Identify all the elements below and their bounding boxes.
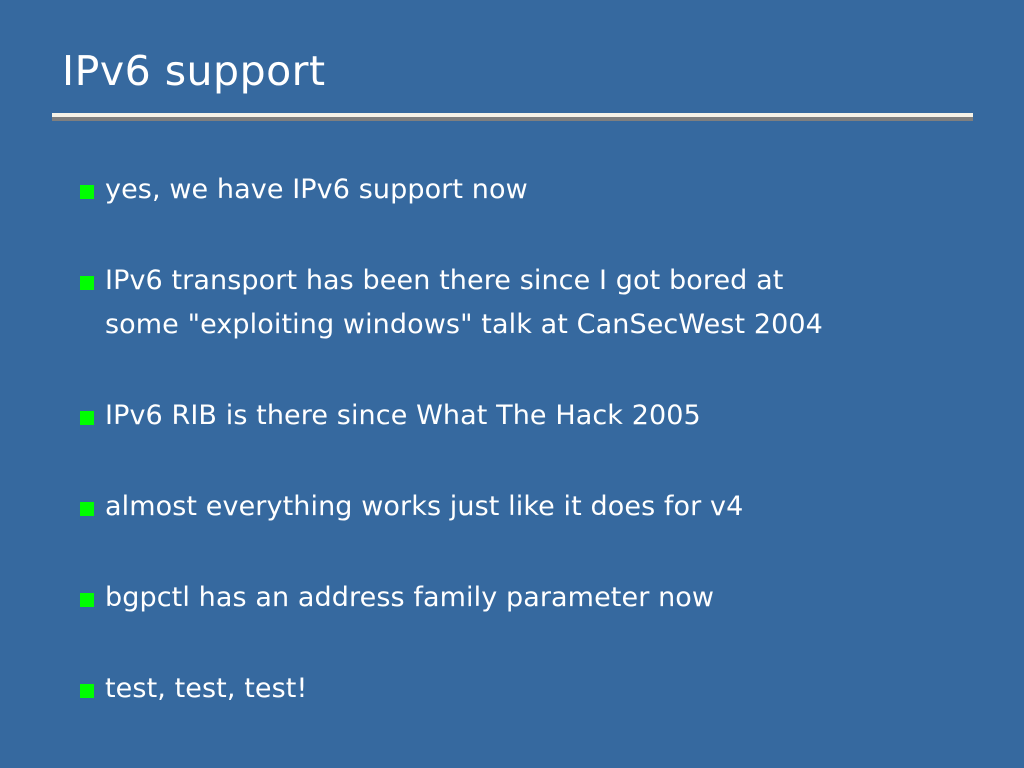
list-item-label: almost everything works just like it doe… [105, 485, 980, 529]
square-bullet-icon [80, 276, 94, 290]
page-title: IPv6 support [62, 47, 326, 95]
title-underline-shadow [52, 117, 973, 121]
list-item-label: IPv6 RIB is there since What The Hack 20… [105, 394, 980, 438]
list-item: IPv6 RIB is there since What The Hack 20… [80, 394, 980, 438]
list-item-label: test, test, test! [105, 667, 980, 711]
bullet-list: yes, we have IPv6 support now IPv6 trans… [80, 168, 980, 711]
list-item: yes, we have IPv6 support now [80, 168, 980, 212]
list-item: bgpctl has an address family parameter n… [80, 576, 980, 620]
presentation-slide: IPv6 support yes, we have IPv6 support n… [0, 0, 1024, 768]
list-item: IPv6 transport has been there since I go… [80, 259, 980, 347]
square-bullet-icon [80, 684, 94, 698]
square-bullet-icon [80, 411, 94, 425]
list-item: test, test, test! [80, 667, 980, 711]
square-bullet-icon [80, 502, 94, 516]
square-bullet-icon [80, 185, 94, 199]
list-item: almost everything works just like it doe… [80, 485, 980, 529]
square-bullet-icon [80, 593, 94, 607]
list-item-label: IPv6 transport has been there since I go… [105, 259, 980, 347]
list-item-label: bgpctl has an address family parameter n… [105, 576, 980, 620]
list-item-label: yes, we have IPv6 support now [105, 168, 980, 212]
